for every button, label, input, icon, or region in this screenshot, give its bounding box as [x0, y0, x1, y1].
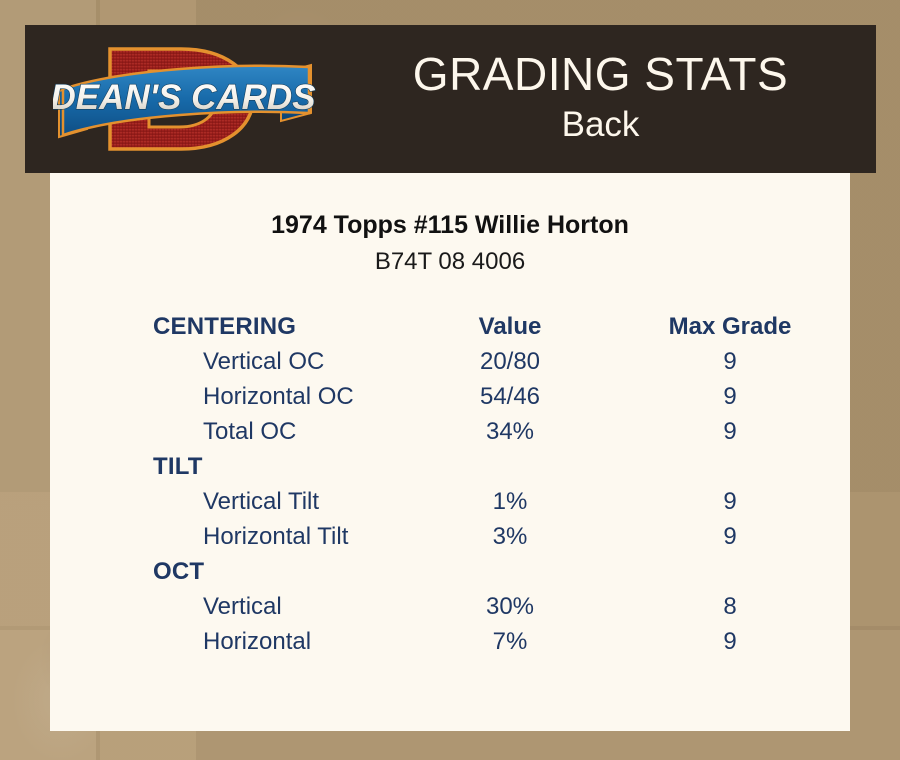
stat-label: Vertical — [50, 589, 410, 624]
section-header-row: TILT — [50, 449, 850, 484]
deans-cards-logo[interactable]: DEAN'S CARDS — [53, 33, 318, 165]
header-bar: DEAN'S CARDS GRADING STATS Back — [25, 25, 876, 173]
section-label: TILT — [50, 449, 410, 484]
stat-max-grade: 9 — [610, 414, 850, 449]
table-row: Total OC34%9 — [50, 414, 850, 449]
section-label: OCT — [50, 554, 410, 589]
grading-stats-page: DEAN'S CARDS GRADING STATS Back 1974 Top… — [0, 0, 900, 760]
table-row: Horizontal OC54/469 — [50, 379, 850, 414]
stat-value: 30% — [410, 589, 610, 624]
stat-value: 54/46 — [410, 379, 610, 414]
stat-max-grade: 8 — [610, 589, 850, 624]
section-value-spacer — [410, 449, 610, 484]
table-row: Vertical30%8 — [50, 589, 850, 624]
stat-label: Horizontal — [50, 624, 410, 659]
stat-max-grade: 9 — [610, 379, 850, 414]
stat-value: 3% — [410, 519, 610, 554]
section-label: CENTERING — [50, 309, 410, 344]
card-code: B74T 08 4006 — [50, 248, 850, 276]
stat-value: 7% — [410, 624, 610, 659]
grading-stats-table: CENTERINGValueMax GradeVertical OC20/809… — [50, 309, 850, 659]
section-header-row: OCT — [50, 554, 850, 589]
stat-label: Vertical Tilt — [50, 484, 410, 519]
page-title: GRADING STATS — [413, 50, 788, 98]
stat-max-grade: 9 — [610, 344, 850, 379]
stat-label: Horizontal Tilt — [50, 519, 410, 554]
card-title: 1974 Topps #115 Willie Horton — [50, 211, 850, 240]
stat-value: 34% — [410, 414, 610, 449]
stat-value: 20/80 — [410, 344, 610, 379]
content-panel: 1974 Topps #115 Willie Horton B74T 08 40… — [50, 173, 850, 731]
stat-label: Vertical OC — [50, 344, 410, 379]
section-header-row: CENTERINGValueMax Grade — [50, 309, 850, 344]
table-row: Vertical Tilt1%9 — [50, 484, 850, 519]
stat-label: Horizontal OC — [50, 379, 410, 414]
stat-max-grade: 9 — [610, 624, 850, 659]
column-header-value: Value — [410, 309, 610, 344]
section-grade-spacer — [610, 554, 850, 589]
table-row: Horizontal Tilt3%9 — [50, 519, 850, 554]
logo-banner-text: DEAN'S CARDS — [53, 78, 316, 117]
stat-max-grade: 9 — [610, 519, 850, 554]
table-row: Vertical OC20/809 — [50, 344, 850, 379]
section-grade-spacer — [610, 449, 850, 484]
stat-value: 1% — [410, 484, 610, 519]
stat-label: Total OC — [50, 414, 410, 449]
stats-table-body: CENTERINGValueMax GradeVertical OC20/809… — [50, 309, 850, 659]
table-row: Horizontal7%9 — [50, 624, 850, 659]
header-title-block: GRADING STATS Back — [325, 25, 876, 173]
column-header-max-grade: Max Grade — [610, 309, 850, 344]
stat-max-grade: 9 — [610, 484, 850, 519]
section-value-spacer — [410, 554, 610, 589]
page-subtitle: Back — [562, 102, 640, 148]
